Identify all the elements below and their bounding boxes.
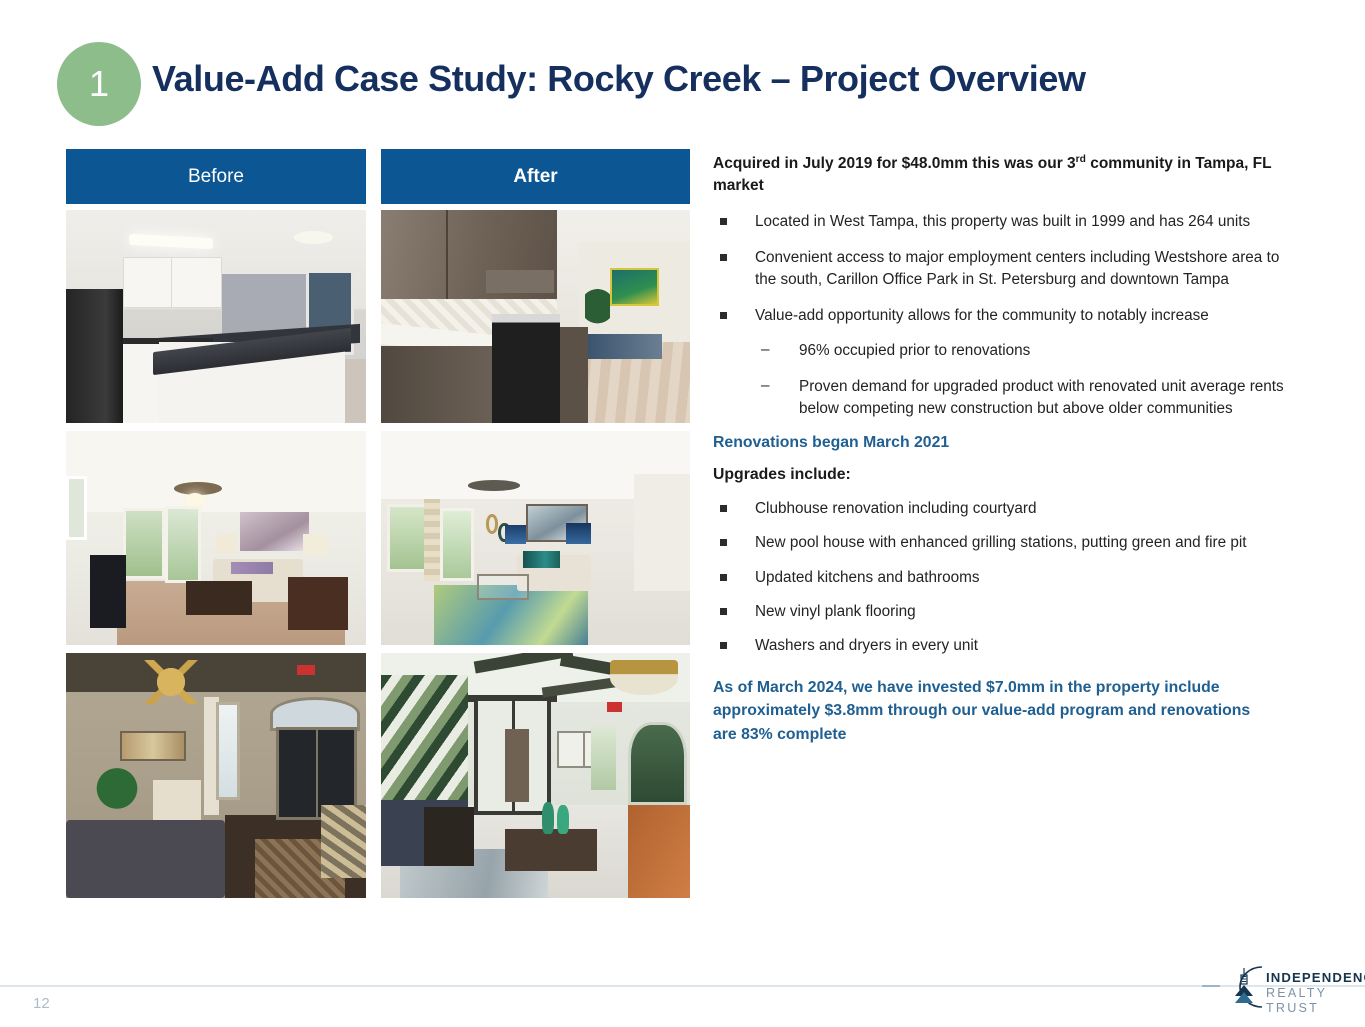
value-add-sub-list: – 96% occupied prior to renovations – Pr… [755, 340, 1293, 420]
square-bullet-icon [720, 254, 727, 261]
square-bullet-icon [720, 218, 727, 225]
renovations-start-header: Renovations began March 2021 [713, 434, 1293, 452]
after-living-room-photo [381, 431, 690, 645]
after-column-label: After [513, 166, 557, 188]
square-bullet-icon [720, 312, 727, 319]
investment-summary: As of March 2024, we have invested $7.0m… [713, 676, 1273, 746]
square-bullet-icon [720, 642, 727, 649]
upgrades-list: Clubhouse renovation including courtyard… [713, 498, 1293, 658]
logo-line-1: INDEPENDENCE [1266, 971, 1365, 986]
acquisition-summary: Acquired in July 2019 for $48.0mm this w… [713, 153, 1285, 197]
list-item-text: Located in West Tampa, this property was… [755, 213, 1250, 230]
square-bullet-icon [720, 574, 727, 581]
list-item: Clubhouse renovation including courtyard [713, 498, 1293, 520]
before-clubhouse-photo [66, 653, 366, 898]
footer-divider [0, 985, 1365, 987]
after-photo-column [381, 210, 690, 898]
page-title: Value-Add Case Study: Rocky Creek – Proj… [152, 58, 1086, 100]
acquisition-summary-part1: Acquired in July 2019 for $48.0mm this w… [713, 155, 1076, 172]
list-item-text: Value-add opportunity allows for the com… [755, 307, 1209, 324]
list-item-text: Convenient access to major employment ce… [755, 249, 1279, 288]
list-item-text: 96% occupied prior to renovations [799, 342, 1030, 359]
upgrades-header: Upgrades include: [713, 466, 1293, 484]
before-column-header: Before [66, 149, 366, 204]
logo-line-2: REALTY TRUST [1266, 986, 1365, 1017]
before-living-room-photo [66, 431, 366, 645]
list-item: Washers and dryers in every unit [713, 635, 1293, 657]
before-column-label: Before [188, 166, 244, 188]
list-item-text: Updated kitchens and bathrooms [755, 569, 980, 586]
list-item: Updated kitchens and bathrooms [713, 567, 1293, 589]
list-item: Value-add opportunity allows for the com… [713, 305, 1293, 421]
after-clubhouse-photo [381, 653, 690, 898]
list-item: – 96% occupied prior to renovations [755, 340, 1293, 362]
list-item-text: New pool house with enhanced grilling st… [755, 534, 1247, 551]
list-item-text: Proven demand for upgraded product with … [799, 378, 1284, 417]
gallery-photo-grid [66, 210, 690, 898]
list-item-text: Clubhouse renovation including courtyard [755, 500, 1036, 517]
lighthouse-icon [1222, 963, 1266, 1011]
ordinal-suffix: rd [1076, 154, 1086, 165]
before-kitchen-photo [66, 210, 366, 423]
list-item: New pool house with enhanced grilling st… [713, 532, 1293, 554]
list-item: Convenient access to major employment ce… [713, 247, 1293, 292]
list-item: – Proven demand for upgraded product wit… [755, 376, 1293, 421]
square-bullet-icon [720, 608, 727, 615]
company-logo: INDEPENDENCE REALTY TRUST [1222, 963, 1352, 1011]
after-kitchen-photo [381, 210, 690, 423]
slide-canvas: 1 Value-Add Case Study: Rocky Creek – Pr… [0, 0, 1365, 1027]
before-photo-column [66, 210, 366, 898]
logo-dash-decoration [1202, 985, 1220, 987]
square-bullet-icon [720, 505, 727, 512]
project-overview-text: Acquired in July 2019 for $48.0mm this w… [713, 153, 1293, 746]
after-column-header: After [381, 149, 690, 204]
step-number-label: 1 [89, 66, 109, 102]
square-bullet-icon [720, 539, 727, 546]
property-highlights-list: Located in West Tampa, this property was… [713, 211, 1293, 420]
step-number-badge: 1 [57, 42, 141, 126]
before-after-gallery: Before After [66, 149, 690, 898]
list-item-text: Washers and dryers in every unit [755, 637, 978, 654]
logo-wordmark: INDEPENDENCE REALTY TRUST [1266, 971, 1365, 1017]
list-item-text: New vinyl plank flooring [755, 603, 916, 620]
gallery-column-headers: Before After [66, 149, 690, 204]
dash-bullet-icon: – [761, 339, 770, 361]
list-item: Located in West Tampa, this property was… [713, 211, 1293, 233]
page-number: 12 [33, 995, 50, 1012]
dash-bullet-icon: – [761, 375, 770, 397]
list-item: New vinyl plank flooring [713, 601, 1293, 623]
